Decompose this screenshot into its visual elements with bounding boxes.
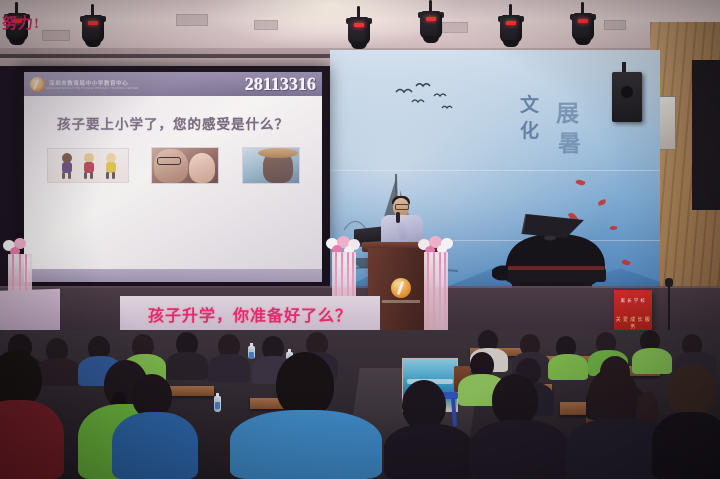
hotline-number: 28113316 (245, 74, 316, 95)
audience-shoulders (548, 354, 588, 380)
slide-header-band: 深圳市教育局中小学教育中心 SHENZHEN EDUCATION BUREAU … (24, 72, 322, 96)
backdrop-calligraphy: 文 (520, 96, 539, 115)
left-banner-partial (0, 289, 60, 336)
projection-screen-frame: 深圳市教育局中小学教育中心 SHENZHEN EDUCATION BUREAU … (18, 66, 328, 288)
backdrop-calligraphy: 暑 (558, 132, 581, 155)
ceiling-vent (604, 20, 626, 30)
presenter-glasses-icon (395, 204, 409, 210)
audience-head-foreground (276, 352, 334, 418)
organization-logo-icon (30, 77, 45, 92)
water-bottle (248, 346, 255, 359)
handheld-microphone (396, 212, 400, 223)
audience-head-foreground (668, 364, 716, 418)
audience-shoulders (632, 348, 672, 374)
wall-speaker (612, 72, 642, 122)
slide-body: 孩子要上小学了，您的感受是什么？ (24, 96, 322, 282)
birds-mural-icon (392, 82, 462, 116)
audience-shoulders (36, 358, 80, 386)
slide-image-child-with-hat (242, 147, 300, 184)
main-banner-text: 孩子升学，你准备好了么？ (120, 302, 380, 326)
organization-name-cn: 深圳市教育局中小学教育中心 (49, 79, 138, 87)
backdrop-calligraphy: 化 (520, 122, 539, 141)
backdrop-calligraphy: 展 (556, 102, 579, 125)
dark-wall-panel (692, 60, 720, 210)
red-stand-line1: 家 长 学 校 (614, 298, 652, 304)
slide-image-mother-and-child (151, 147, 219, 184)
audience-shoulders-foreground (384, 424, 474, 479)
mural-seam (330, 170, 660, 171)
organization-name-en: SHENZHEN EDUCATION BUREAU PRIMARY TRAINI… (45, 87, 138, 90)
audience-head-foreground (492, 374, 538, 426)
audience-shoulders-foreground (470, 420, 568, 479)
audience-head-foreground (588, 368, 638, 424)
audience-head-foreground (402, 380, 446, 430)
audience-shoulders-foreground (652, 412, 720, 479)
ceiling-vent (254, 20, 278, 30)
audience-shoulders-foreground (112, 412, 198, 479)
ceiling-vent (176, 14, 208, 26)
podium-logo-icon (391, 278, 411, 298)
slide-footer-band (24, 269, 322, 282)
slide-image-row (24, 147, 322, 184)
audience-shoulders-foreground (230, 410, 382, 479)
podium-nameplate (382, 300, 420, 303)
left-banner-text: 努力! (2, 12, 40, 33)
lighting-rail (0, 54, 340, 58)
slide-title: 孩子要上小学了，您的感受是什么？ (24, 96, 322, 133)
audience-shoulders (208, 354, 250, 382)
ceiling-vent (442, 22, 468, 33)
audience-shoulders (166, 352, 208, 380)
screenshot-root: 文 化 展 暑 深圳市教育局中小学教育中心 SHENZHEN EDUCATION… (0, 0, 720, 479)
water-bottle (214, 396, 221, 412)
red-stand-line2: 关 爱 成 长 服 务 (614, 316, 652, 330)
slide-image-cartoon-children (47, 148, 129, 183)
projection-screen[interactable]: 深圳市教育局中小学教育中心 SHENZHEN EDUCATION BUREAU … (24, 72, 322, 282)
audience-shoulders-foreground (0, 400, 64, 479)
ceiling-vent (42, 30, 70, 41)
